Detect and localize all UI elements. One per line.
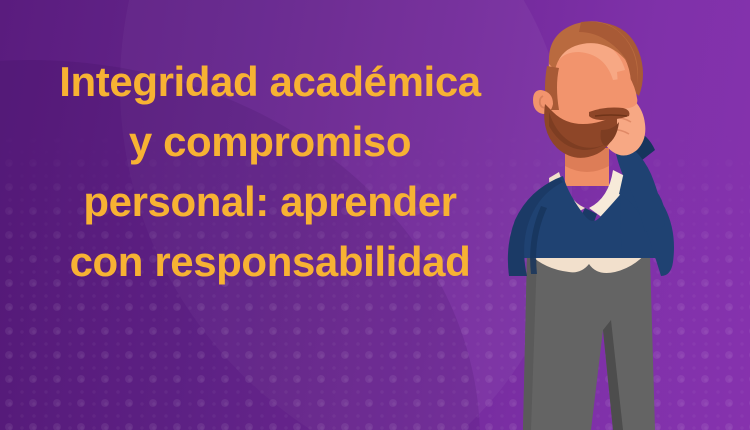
banner-title: Integridad académica y compromiso person… xyxy=(0,52,540,292)
pants xyxy=(523,255,655,430)
title-line-3: personal: aprender xyxy=(0,172,540,232)
pants-group xyxy=(523,255,655,430)
banner-graphic: Integridad académica y compromiso person… xyxy=(0,0,750,430)
thinking-man-illustration xyxy=(505,0,750,430)
title-line-4: con responsabilidad xyxy=(0,232,540,292)
title-line-2: y compromiso xyxy=(0,112,540,172)
title-line-1: Integridad académica xyxy=(0,52,540,112)
